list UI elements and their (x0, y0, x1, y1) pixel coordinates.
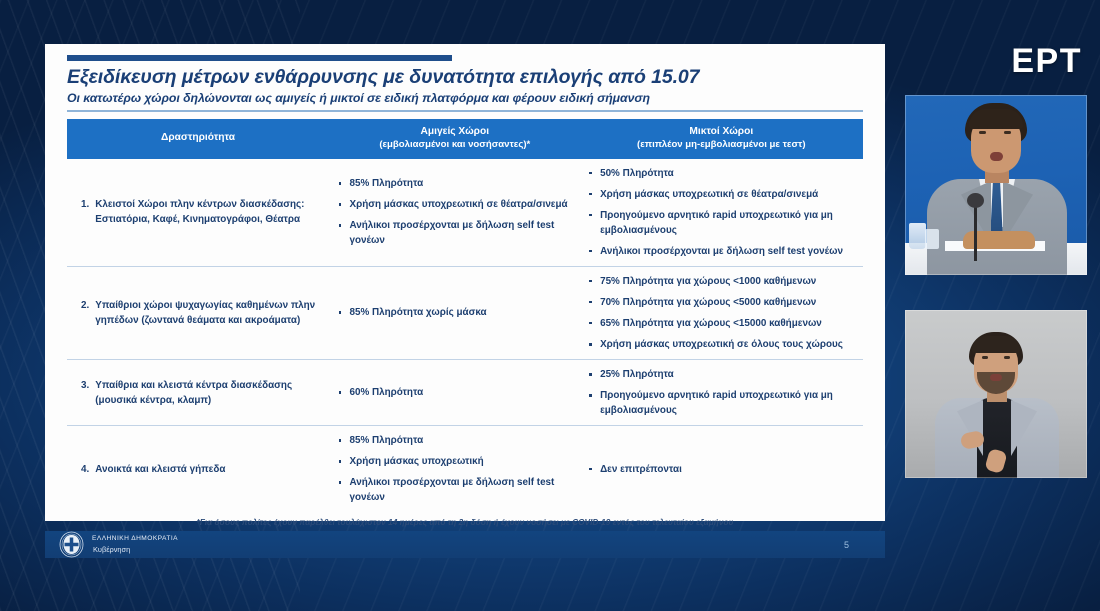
row-number: 4. (81, 462, 89, 477)
cell-pure-rules: 85% Πληρότητα Χρήση μάσκας υποχρεωτική σ… (330, 159, 581, 267)
list-item: Ανήλικοι προσέρχονται με δήλωση self tes… (338, 475, 573, 505)
column-header-pure-sub: (εμβολιασμένοι και νοσήσαντες)* (334, 139, 576, 152)
list-item: Χρήση μάσκας υποχρεωτική σε όλους τους χ… (588, 337, 854, 352)
list-item: 65% Πληρότητα για χώρους <15000 καθήμενω… (588, 316, 854, 331)
column-header-mixed-sub: (επιπλέον μη-εμβολιασμένοι με τεστ) (585, 139, 858, 152)
row-number: 2. (81, 298, 89, 328)
signer-eye-left (982, 356, 988, 359)
sign-language-video-panel (905, 310, 1087, 478)
presentation-slide: Εξειδίκευση μέτρων ενθάρρυνσης με δυνατό… (45, 44, 885, 521)
list-item: 25% Πληρότητα (588, 367, 854, 382)
speaker-eyebrow-right (1002, 126, 1012, 129)
cell-activity: 3. Υπαίθρια και κλειστά κέντρα διασκέδασ… (67, 360, 330, 426)
water-bottle (925, 229, 939, 249)
pure-rules-list: 85% Πληρότητα Χρήση μάσκας υποχρεωτική Α… (338, 433, 573, 505)
mixed-rules-list: 25% Πληρότητα Προηγούμενο αρνητικό rapid… (588, 367, 854, 418)
row-number: 3. (81, 378, 89, 408)
page-number: 5 (844, 540, 849, 550)
slide-title: Εξειδίκευση μέτρων ενθάρρυνσης με δυνατό… (67, 66, 863, 88)
column-header-activity: Δραστηριότητα (67, 119, 330, 159)
speaker-eyebrow-left (978, 126, 988, 129)
table-header-row: Δραστηριότητα Αμιγείς Χώροι (εμβολιασμέν… (67, 119, 863, 159)
cell-mixed-rules: 75% Πληρότητα για χώρους <1000 καθήμενων… (580, 266, 862, 359)
column-header-activity-main: Δραστηριότητα (161, 132, 235, 143)
slide-subtitle: Οι κατωτέρω χώροι δηλώνονται ως αμιγείς … (67, 91, 863, 105)
speaker-video-panel (905, 95, 1087, 275)
column-header-mixed-spaces: Μικτοί Χώροι (επιπλέον μη-εμβολιασμένοι … (580, 119, 862, 159)
mixed-rule-single: Δεν επιτρέπονται (588, 462, 854, 477)
list-item: Ανήλικοι προσέρχονται με δήλωση self tes… (338, 218, 573, 248)
water-glass (909, 223, 926, 249)
row-number: 1. (81, 197, 89, 227)
slide-footnote: *Για όσους πολίτες έχουν παρέλθει τουλάχ… (67, 512, 863, 531)
signer-mouth (990, 374, 1002, 381)
cell-activity: 1. Κλειστοί Χώροι πλην κέντρων διασκέδασ… (67, 159, 330, 267)
slide-body: Εξειδίκευση μέτρων ενθάρρυνσης με δυνατό… (45, 44, 885, 531)
activity-label: Κλειστοί Χώροι πλην κέντρων διασκέδασης:… (95, 197, 321, 227)
table-row: 4. Ανοικτά και κλειστά γήπεδα 85% Πληρότ… (67, 426, 863, 513)
mixed-rules-list: 75% Πληρότητα για χώρους <1000 καθήμενων… (588, 274, 854, 352)
slide-footer: ΕΛΛΗΝΙΚΗ ΔΗΜΟΚΡΑΤΙΑ Κυβέρνηση 5 (45, 531, 885, 558)
org-name-line2: Κυβέρνηση (92, 545, 178, 554)
list-item: Προηγούμενο αρνητικό rapid υποχρεωτικό γ… (588, 388, 854, 418)
table-row: 2. Υπαίθριοι χώροι ψυχαγωγίας καθημένων … (67, 266, 863, 359)
broadcast-screen: ΕΡΤ Εξειδίκευση μέτρων ενθάρρυνσης με δυ… (0, 0, 1100, 611)
mixed-rules-list: 50% Πληρότητα Χρήση μάσκας υποχρεωτική σ… (588, 166, 854, 259)
speaker-eye-right (1004, 131, 1011, 134)
microphone-icon (967, 193, 984, 208)
list-item: Χρήση μάσκας υποχρεωτική (338, 454, 573, 469)
pure-rule-single: 85% Πληρότητα χωρίς μάσκα (338, 305, 573, 320)
title-accent-rule (67, 55, 452, 61)
list-item: 85% Πληρότητα (338, 433, 573, 448)
greek-coat-of-arms-icon (59, 531, 84, 558)
activity-label: Υπαίθριοι χώροι ψυχαγωγίας καθημένων πλη… (95, 298, 321, 328)
activity-label: Ανοικτά και κλειστά γήπεδα (95, 462, 225, 477)
list-item: 50% Πληρότητα (588, 166, 854, 181)
speaker-eye-left (979, 131, 986, 134)
cell-mixed-rules: 25% Πληρότητα Προηγούμενο αρνητικό rapid… (580, 360, 862, 426)
list-item: 75% Πληρότητα για χώρους <1000 καθήμενων (588, 274, 854, 289)
pure-rule-single: 60% Πληρότητα (338, 385, 573, 400)
cell-activity: 4. Ανοικτά και κλειστά γήπεδα (67, 426, 330, 513)
list-item: Χρήση μάσκας υποχρεωτική σε θέατρα/σινεμ… (338, 197, 573, 212)
list-item: Χρήση μάσκας υποχρεωτική σε θέατρα/σινεμ… (588, 187, 854, 202)
cell-pure-rules: 85% Πληρότητα χωρίς μάσκα (330, 266, 581, 359)
list-item: Προηγούμενο αρνητικό rapid υποχρεωτικό γ… (588, 208, 854, 238)
measures-table: Δραστηριότητα Αμιγείς Χώροι (εμβολιασμέν… (67, 119, 863, 512)
cell-mixed-rules: Δεν επιτρέπονται (580, 426, 862, 513)
subtitle-divider (67, 110, 863, 112)
cell-pure-rules: 60% Πληρότητα (330, 360, 581, 426)
ert-channel-logo: ΕΡΤ (1011, 44, 1082, 78)
table-row: 1. Κλειστοί Χώροι πλην κέντρων διασκέδασ… (67, 159, 863, 267)
cell-pure-rules: 85% Πληρότητα Χρήση μάσκας υποχρεωτική Α… (330, 426, 581, 513)
org-name-line1: ΕΛΛΗΝΙΚΗ ΔΗΜΟΚΡΑΤΙΑ (92, 535, 178, 543)
speaker-mouth (990, 152, 1003, 161)
pure-rules-list: 85% Πληρότητα Χρήση μάσκας υποχρεωτική σ… (338, 176, 573, 248)
column-header-pure-spaces: Αμιγείς Χώροι (εμβολιασμένοι και νοσήσαν… (330, 119, 581, 159)
microphone-stem (974, 199, 977, 261)
signer-eye-right (1004, 356, 1010, 359)
column-header-mixed-main: Μικτοί Χώροι (689, 126, 753, 137)
activity-label: Υπαίθρια και κλειστά κέντρα διασκέδασης … (95, 378, 321, 408)
table-row: 3. Υπαίθρια και κλειστά κέντρα διασκέδασ… (67, 360, 863, 426)
column-header-pure-main: Αμιγείς Χώροι (421, 126, 490, 137)
list-item: 85% Πληρότητα (338, 176, 573, 191)
list-item: 70% Πληρότητα για χώρους <5000 καθήμενων (588, 295, 854, 310)
cell-mixed-rules: 50% Πληρότητα Χρήση μάσκας υποχρεωτική σ… (580, 159, 862, 267)
list-item: Ανήλικοι προσέρχονται με δήλωση self tes… (588, 244, 854, 259)
signer-hairline (972, 336, 1020, 353)
government-wordmark: ΕΛΛΗΝΙΚΗ ΔΗΜΟΚΡΑΤΙΑ Κυβέρνηση (92, 535, 178, 554)
cell-activity: 2. Υπαίθριοι χώροι ψυχαγωγίας καθημένων … (67, 266, 330, 359)
table-body: 1. Κλειστοί Χώροι πλην κέντρων διασκέδασ… (67, 159, 863, 513)
